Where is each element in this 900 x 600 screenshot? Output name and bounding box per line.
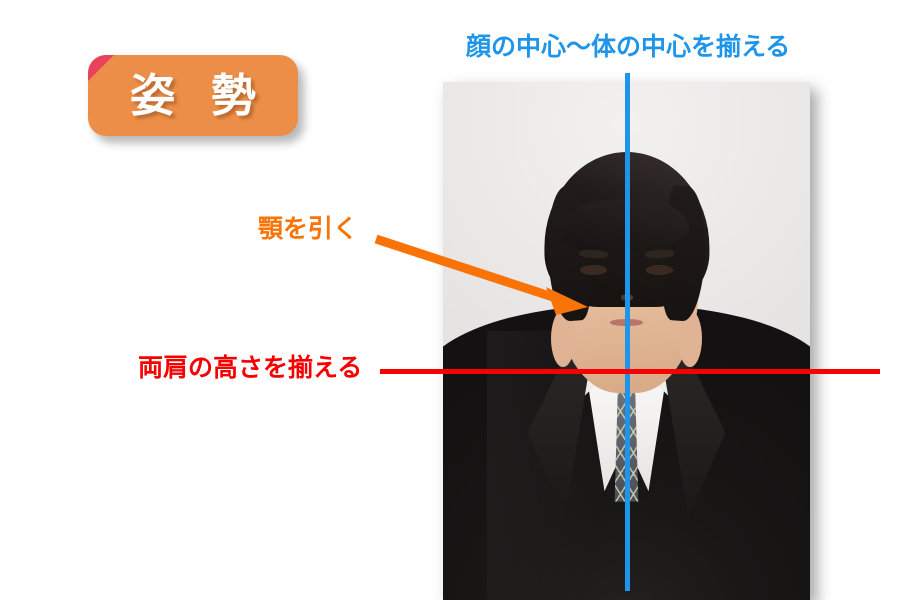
vertical-center-guide-line (625, 73, 630, 591)
badge-label: 姿 勢 (88, 55, 298, 136)
annotation-chin-tuck: 顎を引く (258, 216, 358, 241)
section-badge: 姿 勢 (88, 55, 298, 136)
annotation-center-alignment: 顔の中心〜体の中心を揃える (466, 34, 790, 59)
annotation-shoulder-level: 両肩の高さを揃える (138, 355, 362, 380)
horizontal-shoulder-guide-line (380, 369, 880, 374)
chin-tuck-arrow-icon (360, 225, 600, 325)
poster-canvas: 姿 勢 顔の中心〜体の中心を揃える 顎を引く (0, 0, 900, 600)
